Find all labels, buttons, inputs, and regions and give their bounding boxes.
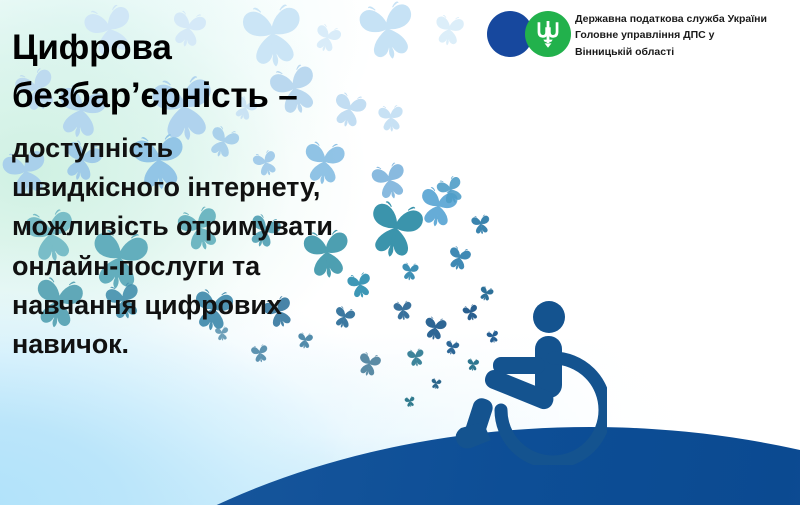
organisation-name: Державна податкова служба України Головн… xyxy=(575,9,767,60)
body-line-1: доступність xyxy=(12,129,442,168)
body-line-4: онлайн-послуги та xyxy=(12,247,442,286)
butterfly-icon xyxy=(429,377,443,391)
body-line-3: можливість отримувати xyxy=(12,207,442,246)
bottom-arc-container xyxy=(0,415,800,505)
body-line-6: навичок. xyxy=(12,325,442,364)
slide-body-copy: доступність швидкісного інтернету, можли… xyxy=(12,129,442,364)
wheelchair-icon xyxy=(455,300,607,465)
agency-logo xyxy=(487,9,571,59)
body-line-2: швидкісного інтернету, xyxy=(12,168,442,207)
body-line-5: навчання цифрових xyxy=(12,286,442,325)
org-line-1: Державна податкова служба України xyxy=(575,11,767,27)
headline-line-2: безбар’єрність – xyxy=(12,72,442,120)
organisation-header: Державна податкова служба України Головн… xyxy=(487,9,767,60)
headline-line-1: Цифрова xyxy=(12,24,442,72)
slide-canvas: Цифрова безбар’єрність – доступність шви… xyxy=(0,0,800,505)
slide-headline: Цифрова безбар’єрність – xyxy=(12,24,442,119)
bottom-blue-arc xyxy=(0,427,800,505)
butterfly-icon xyxy=(403,395,417,409)
logo-green-circle-trident-icon xyxy=(525,11,571,57)
org-line-2: Головне управління ДПС у xyxy=(575,27,767,43)
slide-text-block: Цифрова безбар’єрність – доступність шви… xyxy=(12,24,442,364)
butterfly-icon xyxy=(469,213,494,238)
butterfly-icon xyxy=(443,243,475,275)
org-line-3: Вінницькій області xyxy=(575,44,767,60)
